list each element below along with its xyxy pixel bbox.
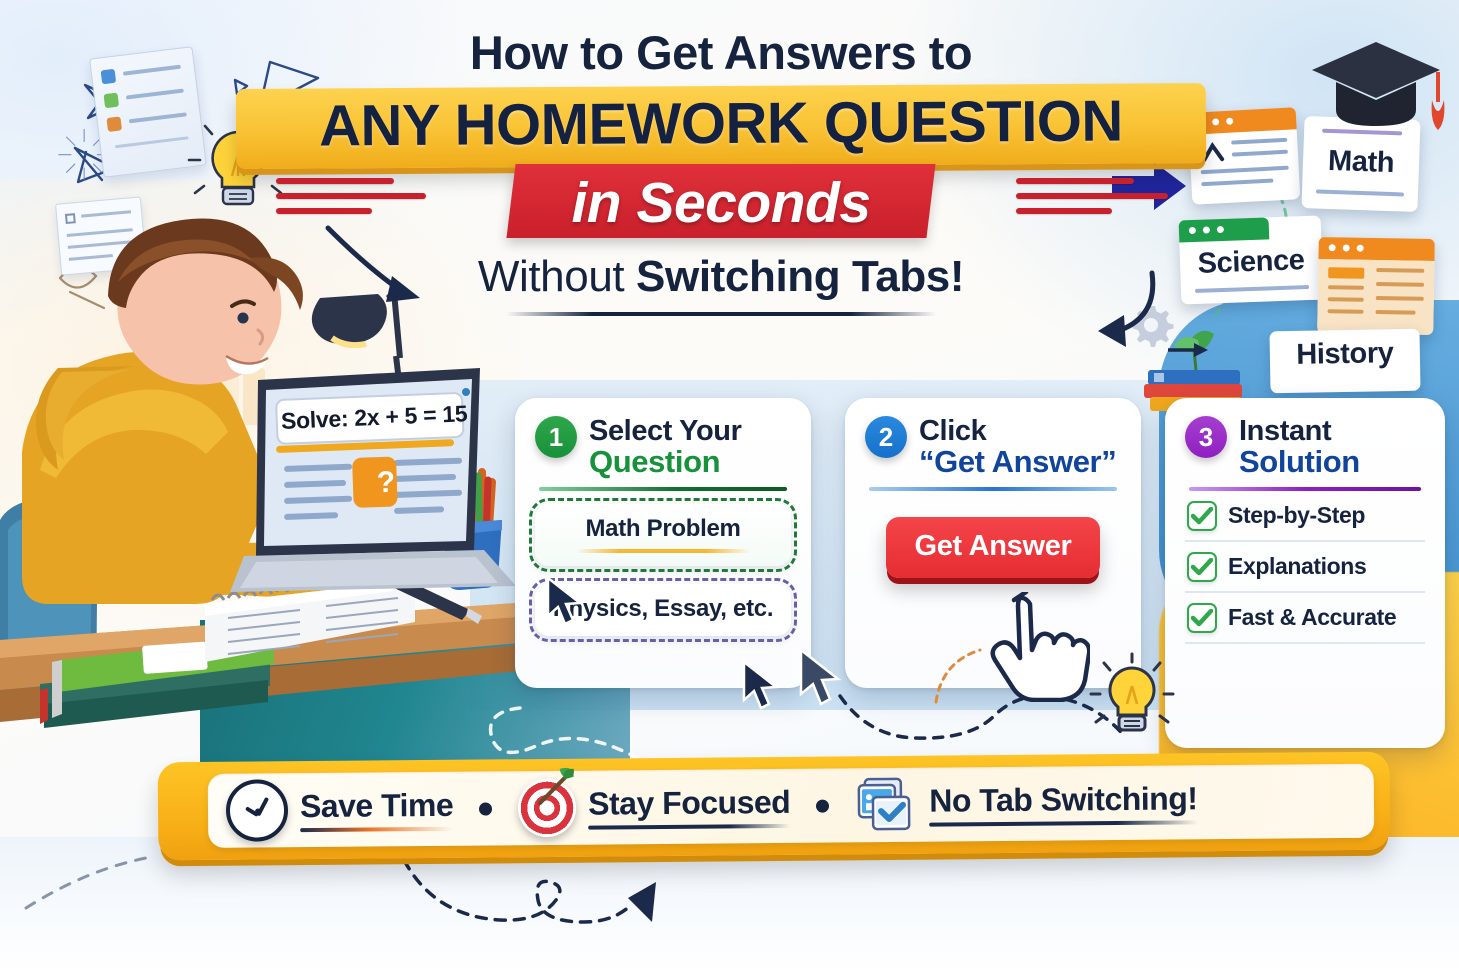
checklist-item-1: Step-by-Step (1185, 491, 1425, 542)
step-2-title-top: Click (919, 416, 1116, 446)
option-math-problem[interactable]: Math Problem (535, 504, 791, 566)
laptop-placeholder-badge: ? (363, 465, 408, 501)
step-3-header: 3 Instant Solution (1185, 416, 1425, 479)
step-1-title-bottom: Question (589, 446, 741, 479)
step-1-title-rule (539, 487, 787, 491)
subject-card-math[interactable]: Math (1301, 116, 1420, 212)
step-1-title-top: Select Your (589, 416, 741, 446)
headline-red-text: in Seconds (571, 170, 870, 236)
browser-tabs-icon (855, 777, 917, 834)
benefit-save-time-text: Save Time (300, 787, 454, 832)
headline-yellow-banner: Any Homework Question (236, 83, 1206, 169)
headline-line-3: Without Switching Tabs! (236, 252, 1206, 302)
benefit-no-tab-switching-text: No Tab Switching! (929, 780, 1198, 826)
headline-line-3-plain: Without (478, 252, 636, 301)
step-3-title-top: Instant (1239, 416, 1360, 446)
speed-lines-left (276, 178, 426, 223)
subject-card-history[interactable]: History (1269, 329, 1420, 394)
headline-block: How to Get Answers to Any Homework Quest… (236, 28, 1206, 316)
step-3-title: Instant Solution (1239, 416, 1360, 479)
target-icon (518, 779, 577, 838)
checklist-item-3: Fast & Accurate (1185, 593, 1425, 644)
subject-card-math-label: Math (1303, 144, 1420, 181)
headline-banner-text: Any Homework Question (256, 92, 1186, 156)
browser-dots (1329, 244, 1364, 252)
check-icon (1187, 501, 1217, 531)
step-1-badge: 1 (535, 416, 577, 458)
step-3-title-bottom: Solution (1239, 446, 1360, 479)
headline-line-3-bold: Switching Tabs! (636, 252, 964, 301)
step-1-header: 1 Select Your Question (535, 416, 791, 479)
step-card-1[interactable]: 1 Select Your Question Math Problem Phys… (515, 398, 811, 688)
step-card-3[interactable]: 3 Instant Solution Step-by-Step Explanat… (1165, 398, 1445, 748)
get-answer-button[interactable]: Get Answer (886, 517, 1099, 578)
step-2-header: 2 Click “Get Answer” (865, 416, 1121, 479)
speed-lines-right (1016, 178, 1168, 223)
benefit-stay-focused-label: Stay Focused (588, 784, 790, 823)
benefits-bar-inner: Save Time Stay Focused (208, 764, 1375, 848)
benefit-save-time[interactable]: Save Time (226, 778, 454, 842)
benefit-underline (300, 827, 453, 832)
option-other-subjects-label: Physics, Essay, etc. (547, 595, 779, 623)
benefit-separator-2 (816, 799, 829, 812)
benefits-bar: Save Time Stay Focused (158, 752, 1391, 861)
option-underline (576, 549, 750, 553)
step-2-title: Click “Get Answer” (919, 416, 1116, 479)
dashed-loop-arrow-bottom (390, 850, 730, 960)
step-card-2[interactable]: 2 Click “Get Answer” Get Answer (845, 398, 1141, 688)
benefit-underline (929, 820, 1197, 826)
clock-icon (226, 779, 289, 842)
step-2-badge: 2 (865, 416, 907, 458)
checklist-item-2: Explanations (1185, 542, 1425, 593)
headline-line-1: How to Get Answers to (236, 28, 1206, 78)
subject-card-history-label: History (1270, 337, 1421, 373)
option-other-subjects[interactable]: Physics, Essay, etc. (535, 584, 791, 636)
headline-red-banner-wrap: in Seconds (236, 160, 1206, 246)
check-icon (1187, 603, 1217, 633)
benefit-save-time-label: Save Time (300, 787, 454, 825)
checklist-item-3-label: Fast & Accurate (1228, 604, 1396, 631)
headline-underline (506, 312, 936, 316)
benefit-separator-1 (479, 802, 492, 815)
benefit-underline (588, 824, 790, 830)
infographic-canvas: Solve: 2x + 5 = 15 ? How to Get Answers … (0, 0, 1459, 972)
step-3-badge: 3 (1185, 416, 1227, 458)
benefit-no-tab-switching-label: No Tab Switching! (929, 780, 1198, 819)
checklist-item-2-label: Explanations (1228, 553, 1366, 580)
get-answer-button-wrap: Get Answer (865, 517, 1121, 578)
benefit-stay-focused[interactable]: Stay Focused (518, 777, 791, 837)
browser-card-titlebar (1318, 237, 1434, 261)
step-2-title-rule (869, 487, 1117, 491)
checklist-item-1-label: Step-by-Step (1228, 502, 1365, 529)
steps-row: 1 Select Your Question Math Problem Phys… (515, 398, 1445, 748)
check-icon (1187, 552, 1217, 582)
option-math-problem-label: Math Problem (547, 515, 779, 543)
decor-browser-card-2 (1317, 237, 1435, 335)
placeholder-badge-value: ? (376, 466, 395, 500)
step-1-title: Select Your Question (589, 416, 741, 479)
dashed-line-bottom-left (20, 852, 280, 922)
benefit-no-tab-switching[interactable]: No Tab Switching! (855, 774, 1198, 833)
step-2-title-bottom: “Get Answer” (919, 446, 1116, 479)
benefit-stay-focused-text: Stay Focused (588, 784, 790, 830)
